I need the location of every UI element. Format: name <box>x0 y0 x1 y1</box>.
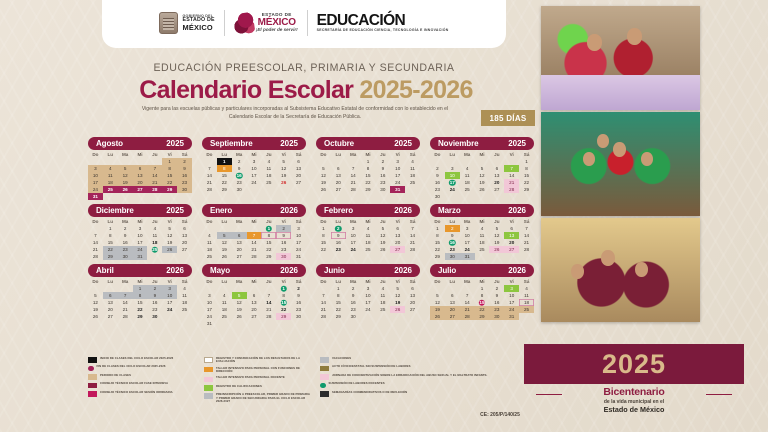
day-cell: 20 <box>247 306 262 313</box>
dow-label: Vi <box>390 152 405 157</box>
day-cell: 29 <box>133 313 148 320</box>
day-cell: 8 <box>162 165 177 172</box>
month-card: Julio2026DoLuMaMiJuViSá12345678910111213… <box>430 264 534 327</box>
dow-label: Do <box>88 279 103 284</box>
month-year: 2026 <box>508 206 526 215</box>
day-cell: 17 <box>88 179 103 186</box>
day-cell: 3 <box>247 158 262 165</box>
day-cell: 13 <box>133 172 148 179</box>
day-cell: 29 <box>162 186 177 193</box>
day-of-week-header: DoLuMaMiJuViSá <box>316 219 420 224</box>
day-cell: 8 <box>276 292 291 299</box>
day-cell: 6 <box>390 225 405 232</box>
day-cell: 4 <box>217 292 232 299</box>
day-cell: 21 <box>118 306 133 313</box>
day-cell: 3 <box>445 165 460 172</box>
day-of-week-header: DoLuMaMiJuViSá <box>202 152 306 157</box>
day-cell: 13 <box>390 232 405 239</box>
day-cell: 3 <box>390 158 405 165</box>
day-cell: 17 <box>390 172 405 179</box>
day-cell: 31 <box>504 313 519 320</box>
day-cell: 29 <box>331 313 346 320</box>
legend-item: TALLER INTENSIVO PARA PERSONAL CON FUNCI… <box>204 367 312 374</box>
day-cell: 27 <box>504 246 519 253</box>
legend-column-3: VACACIONESACTO CÍVICO/ESTATAL SIN SUSPEN… <box>320 357 528 404</box>
day-cell: 26 <box>390 306 405 313</box>
day-of-week-header: DoLuMaMiJuViSá <box>316 279 420 284</box>
day-cell: 5 <box>88 292 103 299</box>
day-cell: 15 <box>162 172 177 179</box>
day-cell: 21 <box>147 179 162 186</box>
day-cell: 30 <box>489 313 504 320</box>
day-cell: 11 <box>261 165 276 172</box>
day-cell: 31 <box>202 320 217 327</box>
dow-label: Sá <box>405 219 420 224</box>
day-cell: 27 <box>133 186 148 193</box>
day-cell: 25 <box>217 313 232 320</box>
month-card: Marzo2026DoLuMaMiJuViSá12345678910111213… <box>430 204 534 260</box>
day-cell: 17 <box>291 239 306 246</box>
day-cell: 31 <box>291 253 306 260</box>
day-cell: 17 <box>162 299 177 306</box>
dow-label: Ma <box>460 279 475 284</box>
day-cell: 15 <box>103 239 118 246</box>
day-cell: 18 <box>519 299 534 306</box>
day-cell: 20 <box>489 179 504 186</box>
day-of-week-header: DoLuMaMiJuViSá <box>202 219 306 224</box>
dow-label: Lu <box>217 219 232 224</box>
day-cell: 29 <box>103 253 118 260</box>
dow-label: Ma <box>118 219 133 224</box>
day-cell: 7 <box>519 225 534 232</box>
day-cell: 6 <box>103 292 118 299</box>
day-cell: 9 <box>346 292 361 299</box>
day-cell: 10 <box>291 232 306 239</box>
day-cell: 21 <box>405 239 420 246</box>
dow-label: Ju <box>147 279 162 284</box>
page-title-years: 2025-2026 <box>359 76 472 104</box>
day-cell: 26 <box>489 246 504 253</box>
day-cell: 7 <box>504 165 519 172</box>
legend-swatch <box>88 374 97 380</box>
day-cell: 15 <box>331 299 346 306</box>
day-cell: 6 <box>177 225 192 232</box>
day-cell: 26 <box>475 186 490 193</box>
day-cell: 25 <box>460 186 475 193</box>
legend-item: VACACIONES <box>320 357 528 363</box>
day-cell: 1 <box>133 285 148 292</box>
day-cell: 24 <box>346 246 361 253</box>
day-cell: 28 <box>460 313 475 320</box>
month-year: 2026 <box>394 266 412 275</box>
day-cell: 2 <box>346 285 361 292</box>
legend-label: TALLER INTENSIVO PARA PERSONAL DOCENTE <box>216 376 285 379</box>
day-cell: 15 <box>361 172 376 179</box>
day-cell: 6 <box>247 292 262 299</box>
day-cell: 28 <box>346 186 361 193</box>
day-cell: 15 <box>316 239 331 246</box>
month-name: Junio <box>324 266 345 275</box>
day-cell: 21 <box>519 239 534 246</box>
day-cell: 13 <box>405 292 420 299</box>
day-of-week-header: DoLuMaMiJuViSá <box>88 152 192 157</box>
month-days-grid: 1234567891011121314151617181920212223242… <box>430 285 534 320</box>
day-cell: 23 <box>177 179 192 186</box>
validity-note: Vigente para las escuelas públicas y par… <box>130 106 460 121</box>
day-of-week-header: DoLuMaMiJuViSá <box>202 279 306 284</box>
day-cell: 13 <box>291 165 306 172</box>
day-cell: 6 <box>489 165 504 172</box>
day-cell: 15 <box>261 239 276 246</box>
day-cell: 18 <box>217 306 232 313</box>
day-cell: 26 <box>88 313 103 320</box>
day-cell: 15 <box>217 172 232 179</box>
day-cell: 21 <box>202 179 217 186</box>
day-of-week-header: DoLuMaMiJuViSá <box>88 279 192 284</box>
dow-label: Ju <box>261 152 276 157</box>
day-cell: 29 <box>361 186 376 193</box>
dow-label: Sá <box>291 152 306 157</box>
day-cell: 24 <box>162 306 177 313</box>
month-days-grid: 1234567891011121314151617181920212223242… <box>316 225 420 253</box>
day-cell: 15 <box>133 299 148 306</box>
day-cell: 23 <box>489 306 504 313</box>
day-cell: 14 <box>247 239 262 246</box>
dow-label: Sá <box>519 219 534 224</box>
dow-label: Do <box>316 152 331 157</box>
dow-label: Do <box>202 152 217 157</box>
day-cell: 26 <box>118 186 133 193</box>
month-year: 2025 <box>394 139 412 148</box>
day-cell: 3 <box>504 285 519 292</box>
month-header: Diciembre2025 <box>88 204 192 217</box>
day-cell: 28 <box>504 186 519 193</box>
day-cell: 7 <box>346 165 361 172</box>
day-cell: 14 <box>460 299 475 306</box>
dow-label: Vi <box>276 152 291 157</box>
day-cell: 25 <box>375 306 390 313</box>
dow-label: Lu <box>103 152 118 157</box>
day-cell: 7 <box>118 292 133 299</box>
month-header: Marzo2026 <box>430 204 534 217</box>
day-cell: 10 <box>346 232 361 239</box>
day-cell: 16 <box>177 172 192 179</box>
day-cell: 16 <box>232 172 247 179</box>
dow-label: Ma <box>346 152 361 157</box>
day-cell: 31 <box>88 193 103 200</box>
day-cell: 23 <box>331 246 346 253</box>
day-cell: 1 <box>519 158 534 165</box>
day-cell: 20 <box>291 172 306 179</box>
day-cell: 23 <box>276 246 291 253</box>
legend-label: PERIODO DE CLASES <box>100 374 131 377</box>
day-cell: 26 <box>162 246 177 253</box>
dow-label: Mi <box>361 279 376 284</box>
bicent-title: Bicentenario <box>524 386 744 398</box>
day-cell: 5 <box>162 225 177 232</box>
day-of-week-header: DoLuMaMiJuViSá <box>430 152 534 157</box>
day-cell: 28 <box>261 313 276 320</box>
day-cell: 5 <box>375 225 390 232</box>
day-cell: 11 <box>405 165 420 172</box>
day-cell: 2 <box>291 285 306 292</box>
day-cell: 5 <box>316 165 331 172</box>
day-cell: 26 <box>217 253 232 260</box>
logo-divider-2 <box>307 10 308 36</box>
day-cell: 4 <box>177 285 192 292</box>
page-title: Calendario Escolar 2025-2026 <box>88 76 524 105</box>
day-cell: 29 <box>430 253 445 260</box>
day-cell: 22 <box>430 246 445 253</box>
legend-item: INICIO DE CLASES DEL CICLO ESCOLAR 2025-… <box>88 357 196 363</box>
dow-label: Vi <box>162 219 177 224</box>
dow-label: Do <box>316 279 331 284</box>
day-cell: 11 <box>375 292 390 299</box>
month-year: 2025 <box>166 206 184 215</box>
day-cell: 9 <box>177 165 192 172</box>
day-cell: 16 <box>430 179 445 186</box>
dow-label: Vi <box>162 152 177 157</box>
month-name: Noviembre <box>438 139 478 148</box>
month-year: 2025 <box>508 139 526 148</box>
day-cell: 23 <box>346 306 361 313</box>
dow-label: Do <box>202 219 217 224</box>
day-cell: 7 <box>261 292 276 299</box>
day-cell: 25 <box>475 246 490 253</box>
day-cell: 13 <box>232 239 247 246</box>
day-cell: 30 <box>445 253 460 260</box>
dow-label: Mi <box>247 219 262 224</box>
day-cell: 25 <box>202 253 217 260</box>
legend-label: VACACIONES <box>332 357 351 360</box>
day-cell: 1 <box>475 285 490 292</box>
day-cell: 9 <box>489 292 504 299</box>
day-cell: 6 <box>405 285 420 292</box>
dow-label: Mi <box>361 219 376 224</box>
day-cell: 19 <box>316 179 331 186</box>
day-cell: 24 <box>361 306 376 313</box>
day-cell: 13 <box>177 232 192 239</box>
months-grid: Agosto2025DoLuMaMiJuViSá1234567891011121… <box>88 137 536 327</box>
day-cell: 22 <box>475 306 490 313</box>
day-cell: 11 <box>202 239 217 246</box>
month-name: Marzo <box>438 206 461 215</box>
day-cell: 6 <box>331 165 346 172</box>
legend-swatch <box>88 391 97 397</box>
day-of-week-header: DoLuMaMiJuViSá <box>88 219 192 224</box>
day-cell: 27 <box>489 186 504 193</box>
month-days-grid: 1234567891011121314151617181920212223242… <box>430 158 534 200</box>
day-cell: 19 <box>375 239 390 246</box>
day-cell: 27 <box>103 313 118 320</box>
day-cell: 28 <box>118 313 133 320</box>
educacion-logo: EDUCACIÓN SECRETARÍA DE EDUCACIÓN CIENCI… <box>317 13 449 33</box>
legend-swatch <box>204 367 213 373</box>
day-cell: 1 <box>430 225 445 232</box>
legend-label: CONSEJO TÉCNICO ESCOLAR FASE INTENSIVA <box>100 382 168 385</box>
day-cell: 30 <box>291 313 306 320</box>
dow-label: Lu <box>331 279 346 284</box>
day-cell: 20 <box>405 299 420 306</box>
dow-label: Vi <box>504 219 519 224</box>
bicent-rule-right <box>706 394 732 395</box>
legend-item: ACTO CÍVICO/ESTATAL SIN SUSPENSIÓN DE LA… <box>320 365 528 371</box>
day-cell: 27 <box>232 253 247 260</box>
day-cell: 2 <box>177 158 192 165</box>
dow-label: Lu <box>445 279 460 284</box>
day-cell: 10 <box>504 292 519 299</box>
day-cell: 30 <box>147 313 162 320</box>
day-cell: 19 <box>232 306 247 313</box>
day-cell: 18 <box>202 246 217 253</box>
dow-label: Do <box>430 219 445 224</box>
day-cell: 5 <box>475 165 490 172</box>
photo-students-group <box>541 218 700 322</box>
month-header: Septiembre2025 <box>202 137 306 150</box>
dow-label: Do <box>202 279 217 284</box>
day-cell: 8 <box>361 165 376 172</box>
day-of-week-header: DoLuMaMiJuViSá <box>430 219 534 224</box>
page-title-main: Calendario Escolar <box>139 76 359 104</box>
day-cell: 31 <box>460 253 475 260</box>
legend-swatch <box>320 357 329 363</box>
month-name: Septiembre <box>210 139 253 148</box>
day-cell: 14 <box>316 299 331 306</box>
day-cell: 10 <box>247 165 262 172</box>
day-cell: 14 <box>405 232 420 239</box>
kicker-text: EDUCACIÓN PREESCOLAR, PRIMARIA Y SECUNDA… <box>104 62 504 74</box>
dow-label: Ma <box>232 279 247 284</box>
day-cell: 7 <box>88 232 103 239</box>
day-cell: 14 <box>202 172 217 179</box>
month-days-grid: 1234567891011121314151617181920212223242… <box>316 158 420 193</box>
day-cell: 13 <box>445 299 460 306</box>
day-cell: 2 <box>445 225 460 232</box>
day-cell: 5 <box>430 292 445 299</box>
day-cell: 22 <box>261 246 276 253</box>
day-cell: 23 <box>232 179 247 186</box>
day-cell: 5 <box>276 158 291 165</box>
dow-label: Ma <box>346 279 361 284</box>
day-cell: 4 <box>202 232 217 239</box>
day-cell: 28 <box>316 313 331 320</box>
day-cell: 8 <box>261 232 276 239</box>
day-cell: 17 <box>202 306 217 313</box>
day-cell: 6 <box>445 292 460 299</box>
dow-label: Mi <box>247 279 262 284</box>
day-cell: 7 <box>316 292 331 299</box>
day-cell: 3 <box>460 225 475 232</box>
dow-label: Lu <box>103 219 118 224</box>
day-cell: 10 <box>361 292 376 299</box>
dow-label: Vi <box>276 279 291 284</box>
legend-item: PERIODO DE CLASES <box>88 374 196 380</box>
day-cell: 28 <box>147 186 162 193</box>
dow-label: Do <box>88 219 103 224</box>
month-days-grid: 1234567891011121314151617181920212223242… <box>202 285 306 327</box>
day-cell: 5 <box>390 285 405 292</box>
dow-label: Ju <box>147 219 162 224</box>
day-cell: 23 <box>118 246 133 253</box>
dow-label: Ma <box>460 219 475 224</box>
day-cell: 10 <box>202 299 217 306</box>
legend-swatch <box>204 385 213 391</box>
dow-label: Lu <box>103 279 118 284</box>
logo-divider-1 <box>224 10 225 36</box>
month-name: Agosto <box>96 139 123 148</box>
legend-label: CONSEJO TÉCNICO ESCOLAR SESIÓN ORDINARIA <box>100 391 173 394</box>
day-cell: 22 <box>276 306 291 313</box>
dow-label: Mi <box>247 152 262 157</box>
day-cell: 12 <box>217 239 232 246</box>
year-banner: 2025 <box>524 344 744 384</box>
month-header: Mayo2026 <box>202 264 306 277</box>
dow-label: Ju <box>261 219 276 224</box>
month-name: Enero <box>210 206 232 215</box>
day-cell: 19 <box>390 299 405 306</box>
dow-label: Ju <box>375 152 390 157</box>
day-cell: 15 <box>475 299 490 306</box>
bird-icon <box>232 11 255 35</box>
day-cell: 22 <box>217 179 232 186</box>
day-cell: 17 <box>247 172 262 179</box>
day-cell: 12 <box>232 299 247 306</box>
day-cell: 25 <box>103 186 118 193</box>
day-cell: 17 <box>460 239 475 246</box>
day-cell: 25 <box>147 246 162 253</box>
day-cell: 29 <box>217 186 232 193</box>
dow-label: Ma <box>346 219 361 224</box>
month-card: Enero2026DoLuMaMiJuViSá12345678910111213… <box>202 204 306 260</box>
month-name: Julio <box>438 266 456 275</box>
day-cell: 26 <box>232 313 247 320</box>
day-cell: 29 <box>276 313 291 320</box>
day-cell: 29 <box>475 313 490 320</box>
day-cell: 16 <box>346 299 361 306</box>
day-cell: 23 <box>147 306 162 313</box>
month-header: Julio2026 <box>430 264 534 277</box>
day-cell: 22 <box>361 179 376 186</box>
day-cell: 31 <box>133 253 148 260</box>
day-cell: 8 <box>103 232 118 239</box>
day-cell: 4 <box>519 285 534 292</box>
month-name: Octubre <box>324 139 354 148</box>
day-cell: 12 <box>118 172 133 179</box>
day-cell: 9 <box>232 165 247 172</box>
dow-label: Sá <box>519 279 534 284</box>
dow-label: Ju <box>147 152 162 157</box>
edomex-brand-logo: ESTADO DE MÉXICO ¡El poder de servir! <box>234 13 298 34</box>
day-cell: 24 <box>390 179 405 186</box>
month-year: 2026 <box>394 206 412 215</box>
day-cell: 9 <box>331 232 346 239</box>
day-cell: 7 <box>460 292 475 299</box>
day-cell: 19 <box>475 179 490 186</box>
day-cell: 18 <box>405 172 420 179</box>
dow-label: Ma <box>232 152 247 157</box>
day-cell: 10 <box>445 172 460 179</box>
dow-label: Ju <box>489 219 504 224</box>
educacion-subtitle: SECRETARÍA DE EDUCACIÓN CIENCIA, TECNOLO… <box>317 29 449 33</box>
legend-label: INICIO DE CLASES DEL CICLO ESCOLAR 2025-… <box>100 357 173 360</box>
day-cell: 23 <box>445 246 460 253</box>
day-cell: 3 <box>162 285 177 292</box>
dow-label: Mi <box>361 152 376 157</box>
day-cell: 6 <box>133 165 148 172</box>
day-cell: 19 <box>430 306 445 313</box>
day-cell: 20 <box>445 306 460 313</box>
bicent-line2: de la vida municipal en el <box>524 399 744 405</box>
